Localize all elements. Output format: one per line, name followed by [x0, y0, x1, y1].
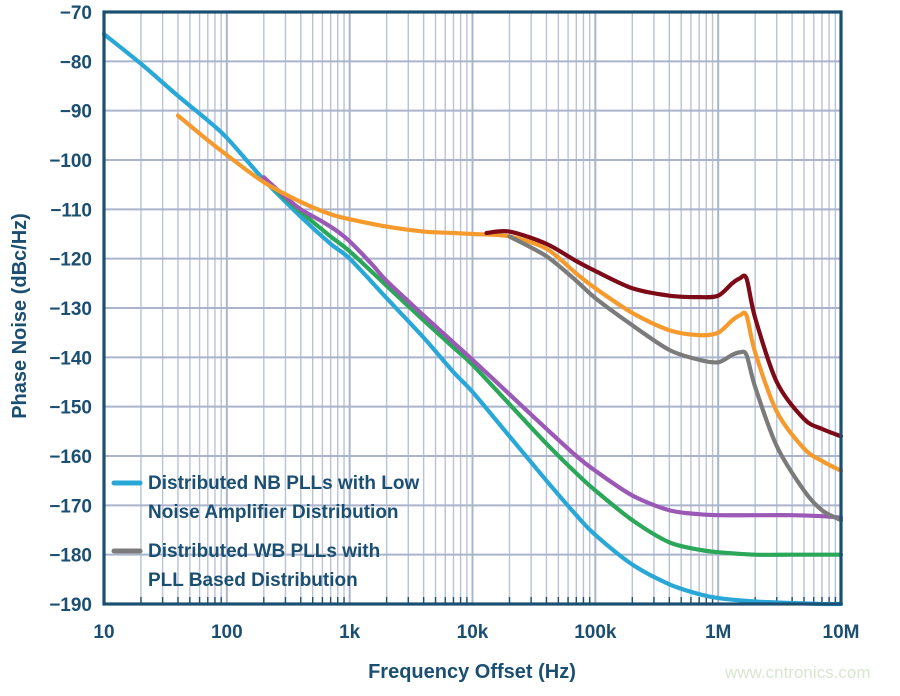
- y-tick-label: −70: [60, 3, 92, 24]
- x-tick-label: 10: [93, 622, 114, 643]
- phase-noise-chart-figure: −70−80−90−100−110−120−130−140−150−160−17…: [0, 0, 900, 696]
- legend-label-1-line0: Distributed WB PLLs with: [148, 541, 380, 562]
- y-tick-label: −100: [49, 151, 92, 172]
- x-tick-label: 1M: [705, 622, 731, 643]
- y-tick-label: −80: [60, 52, 92, 73]
- y-tick-label: −130: [49, 299, 92, 320]
- x-axis-title: Frequency Offset (Hz): [368, 661, 576, 683]
- y-tick-label: −110: [50, 200, 92, 221]
- y-tick-label: −150: [49, 398, 92, 419]
- y-tick-label: −180: [49, 546, 92, 567]
- y-tick-label: −120: [49, 250, 92, 271]
- legend-label-0-line1: Noise Amplifier Distribution: [148, 502, 399, 523]
- legend-label-0-line0: Distributed NB PLLs with Low: [148, 473, 419, 494]
- y-tick-label: −190: [49, 595, 92, 616]
- y-tick-label: −90: [60, 102, 92, 123]
- x-tick-label: 100k: [574, 622, 617, 643]
- y-tick-label: −170: [49, 496, 92, 517]
- x-tick-label: 10M: [823, 622, 860, 643]
- y-tick-label: −160: [49, 447, 92, 468]
- y-axis-title: Phase Noise (dBc/Hz): [9, 213, 31, 419]
- x-tick-label: 10k: [457, 622, 489, 643]
- y-tick-label: −140: [49, 348, 92, 369]
- watermark-text: www.cntronics.com: [724, 663, 870, 682]
- legend-label-1-line1: PLL Based Distribution: [148, 570, 358, 591]
- chart-canvas: −70−80−90−100−110−120−130−140−150−160−17…: [0, 0, 900, 696]
- x-tick-label: 100: [211, 622, 243, 643]
- x-tick-label: 1k: [339, 622, 361, 643]
